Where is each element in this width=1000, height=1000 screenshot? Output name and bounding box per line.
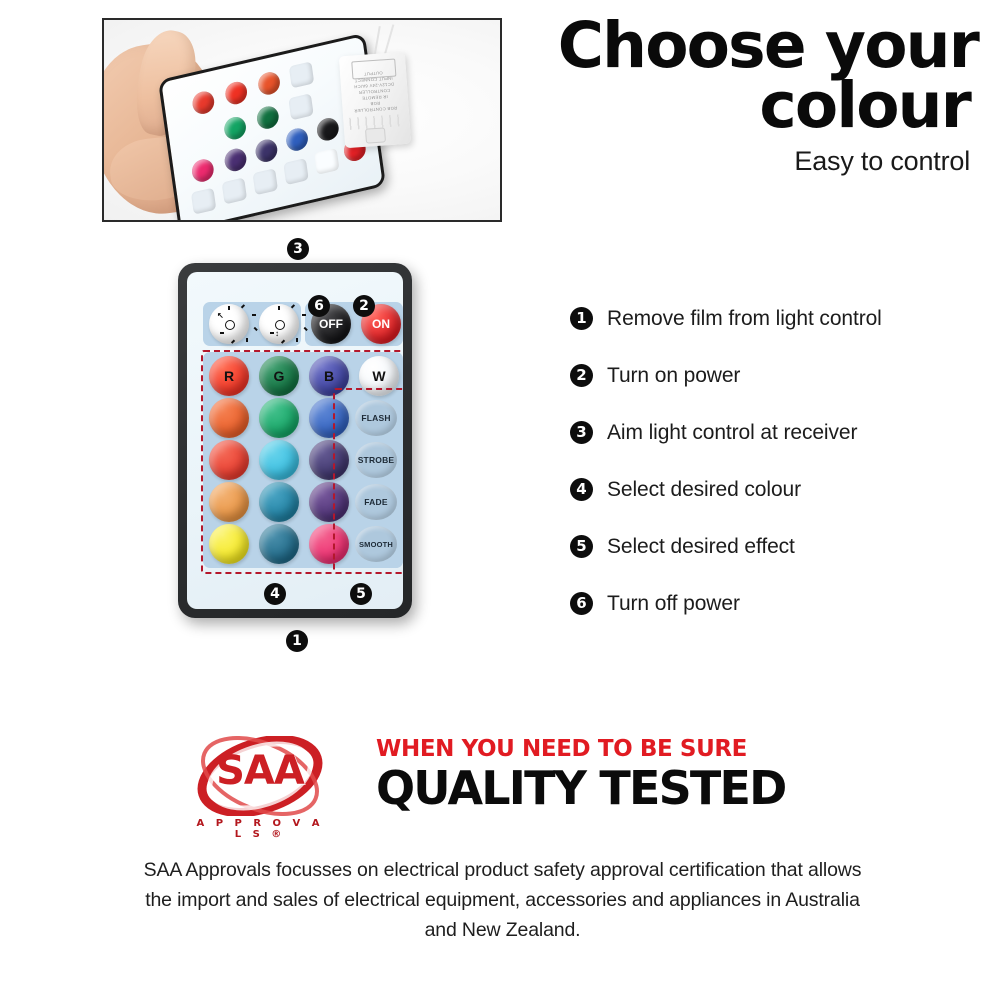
photo-button: [223, 115, 248, 142]
callout-marker-2: 2: [353, 295, 375, 317]
callout-marker-1: 1: [286, 630, 308, 652]
photo-button: [223, 146, 248, 173]
controller-jack: [365, 127, 386, 143]
step-item: 6 Turn off power: [570, 575, 970, 632]
photo-brightness-button: [289, 61, 314, 88]
remote-diagram: 3 1: [160, 238, 430, 658]
step-number: 6: [570, 592, 593, 615]
remote-face: ↖ ↕ OFF: [187, 272, 403, 609]
infographic-page: RGB CONTROLLER RGBIR REMOTE CONTROLLERDC…: [0, 0, 1000, 1000]
step-item: 2 Turn on power: [570, 347, 970, 404]
saa-title: QUALITY TESTED: [376, 765, 826, 812]
step-item: 3 Aim light control at receiver: [570, 404, 970, 461]
brightness-up-icon: ↕: [269, 314, 289, 334]
callout-marker-5: 5: [350, 583, 372, 605]
step-number: 3: [570, 421, 593, 444]
callout-marker-3: 3: [287, 238, 309, 260]
controller-wire: [384, 24, 395, 55]
photo-white-button: [314, 148, 339, 175]
callout-marker-6: 6: [308, 295, 330, 317]
saa-logo-text: SAA: [206, 748, 314, 794]
brightness-down-icon: ↖: [219, 314, 239, 334]
saa-logo: SAA A P P R O V A L S ®: [186, 730, 334, 838]
effect-section-highlight: [333, 388, 403, 574]
step-item: 5 Select desired effect: [570, 518, 970, 575]
step-number: 4: [570, 478, 593, 501]
step-number: 1: [570, 307, 593, 330]
step-item: 1 Remove film from light control: [570, 290, 970, 347]
headline-block: Choose your colour Easy to control: [548, 16, 978, 177]
remote-body: ↖ ↕ OFF: [178, 263, 412, 618]
photo-background: RGB CONTROLLER RGBIR REMOTE CONTROLLERDC…: [104, 20, 500, 220]
product-photo: RGB CONTROLLER RGBIR REMOTE CONTROLLERDC…: [102, 18, 502, 222]
headline-line-1: Choose your: [548, 16, 978, 76]
photo-button: [191, 89, 216, 116]
photo-button: [316, 116, 341, 143]
photo-button: [191, 157, 216, 184]
step-number: 2: [570, 364, 593, 387]
brightness-down-button[interactable]: ↖: [209, 304, 249, 344]
step-text: Aim light control at receiver: [607, 421, 857, 445]
saa-headings: WHEN YOU NEED TO BE SURE QUALITY TESTED: [376, 736, 826, 812]
step-text: Turn on power: [607, 364, 740, 388]
step-number: 5: [570, 535, 593, 558]
step-text: Select desired effect: [607, 535, 795, 559]
step-item: 4 Select desired colour: [570, 461, 970, 518]
photo-effect-button: [253, 168, 278, 195]
step-text: Turn off power: [607, 592, 740, 616]
headline-line-2: colour: [548, 76, 978, 136]
photo-button: [224, 80, 249, 107]
photo-effect-button: [191, 188, 216, 215]
step-text: Remove film from light control: [607, 307, 882, 331]
photo-button: [285, 126, 310, 153]
instruction-list: 1 Remove film from light control 2 Turn …: [570, 290, 970, 632]
callout-marker-4: 4: [264, 583, 286, 605]
saa-body-text: SAA Approvals focusses on electrical pro…: [130, 855, 875, 945]
saa-section: SAA A P P R O V A L S ® WHEN YOU NEED TO…: [186, 730, 826, 840]
photo-brightness-button: [288, 93, 313, 120]
photo-button: [256, 104, 281, 131]
headline-subtitle: Easy to control: [548, 146, 978, 177]
saa-approvals-text: A P P R O V A L S ®: [194, 818, 326, 840]
photo-button: [257, 70, 282, 97]
brightness-up-button[interactable]: ↕: [259, 304, 299, 344]
rgb-controller-box: RGB CONTROLLER RGBIR REMOTE CONTROLLERDC…: [339, 52, 411, 148]
step-text: Select desired colour: [607, 478, 801, 502]
photo-effect-button: [283, 158, 308, 185]
photo-button: [254, 137, 279, 164]
controller-label: RGB CONTROLLER RGBIR REMOTE CONTROLLERDC…: [346, 66, 403, 114]
saa-tagline: WHEN YOU NEED TO BE SURE: [376, 736, 826, 762]
photo-effect-button: [222, 177, 247, 204]
